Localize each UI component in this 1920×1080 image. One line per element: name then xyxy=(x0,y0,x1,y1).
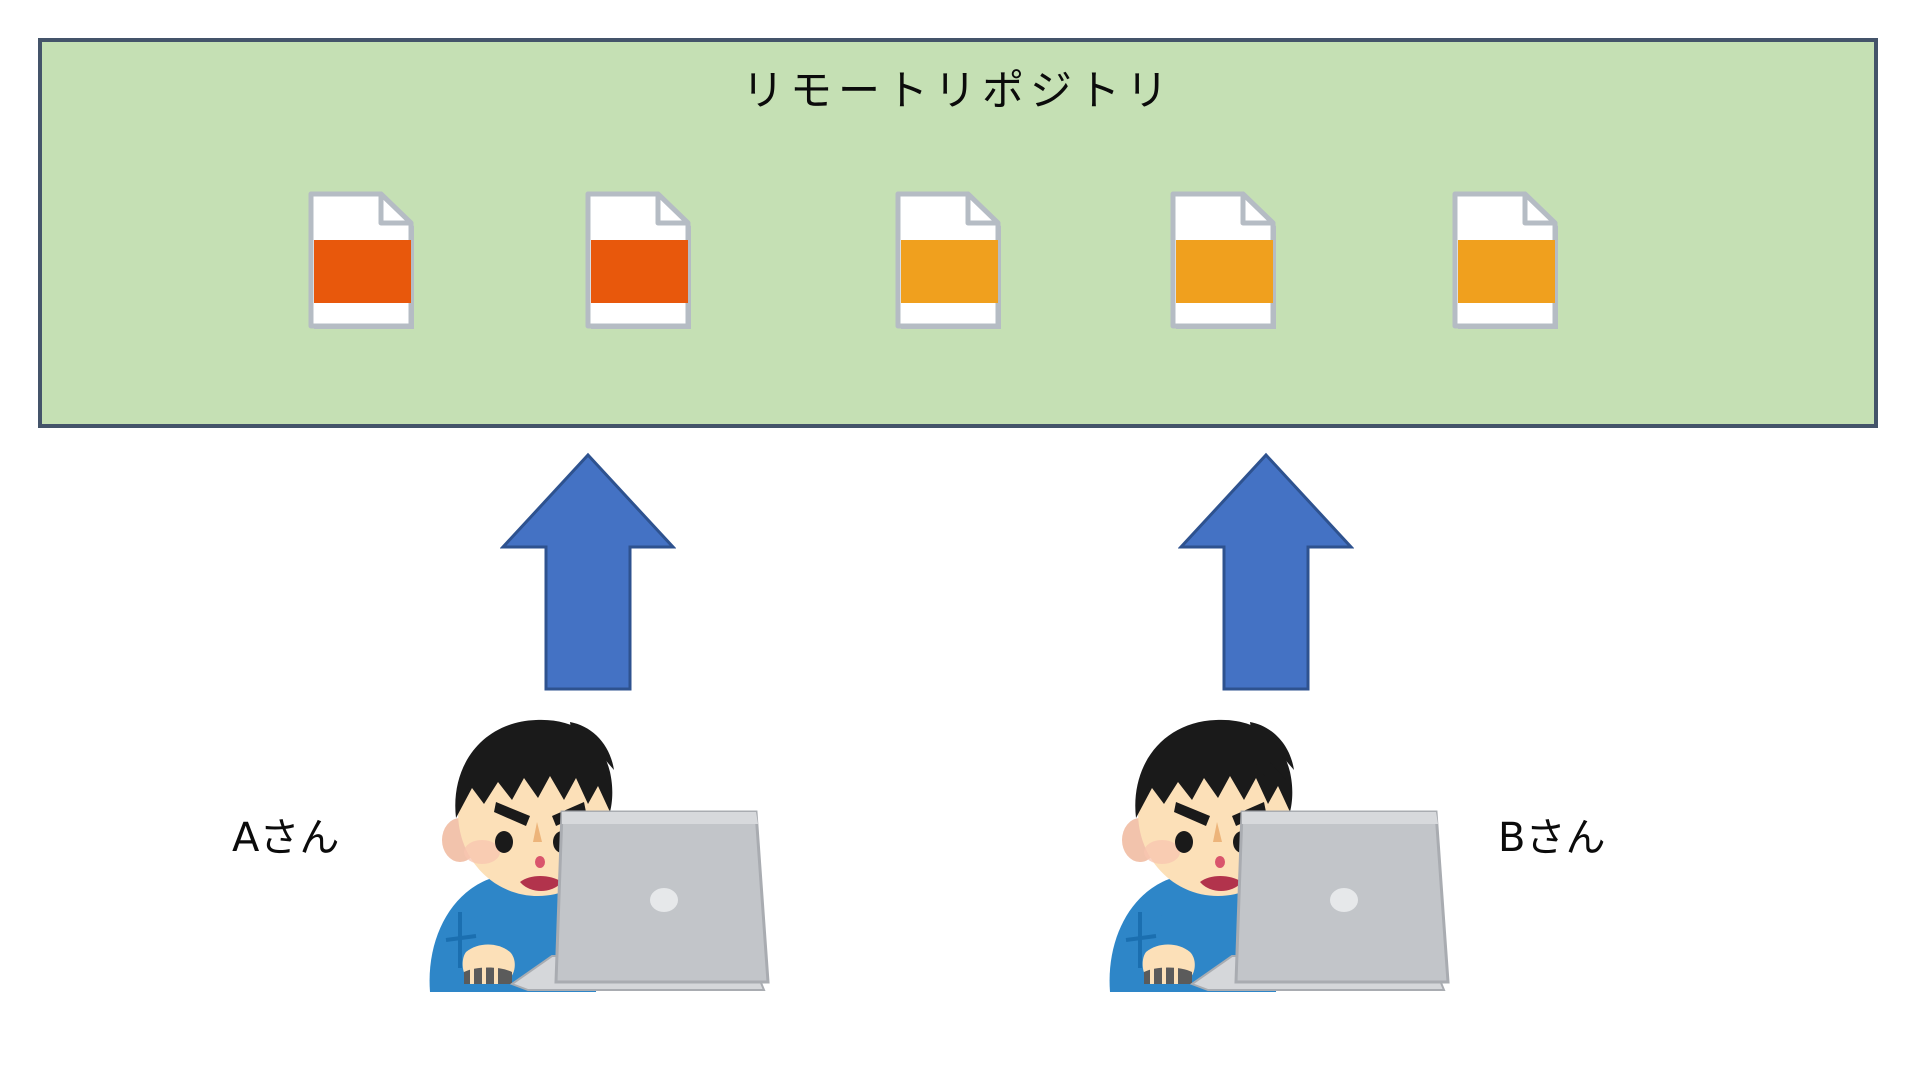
arrow-push-a xyxy=(500,452,676,692)
file-band-4 xyxy=(1176,240,1273,303)
file-icon-1 xyxy=(308,192,420,334)
file-band-2 xyxy=(591,240,688,303)
person-a-illustration xyxy=(420,700,780,1000)
person-a-label: Aさん xyxy=(232,818,339,858)
file-icon-4 xyxy=(1170,192,1282,334)
file-band-5 xyxy=(1458,240,1555,303)
file-icon-3 xyxy=(895,192,1007,334)
file-icon-2 xyxy=(585,192,697,334)
file-icon-5 xyxy=(1452,192,1564,334)
remote-repository-title: リモートリポジトリ xyxy=(42,70,1874,112)
file-band-3 xyxy=(901,240,998,303)
person-b-label: Bさん xyxy=(1498,818,1605,858)
person-b-illustration xyxy=(1100,700,1460,1000)
arrow-push-b xyxy=(1178,452,1354,692)
file-band-1 xyxy=(314,240,411,303)
